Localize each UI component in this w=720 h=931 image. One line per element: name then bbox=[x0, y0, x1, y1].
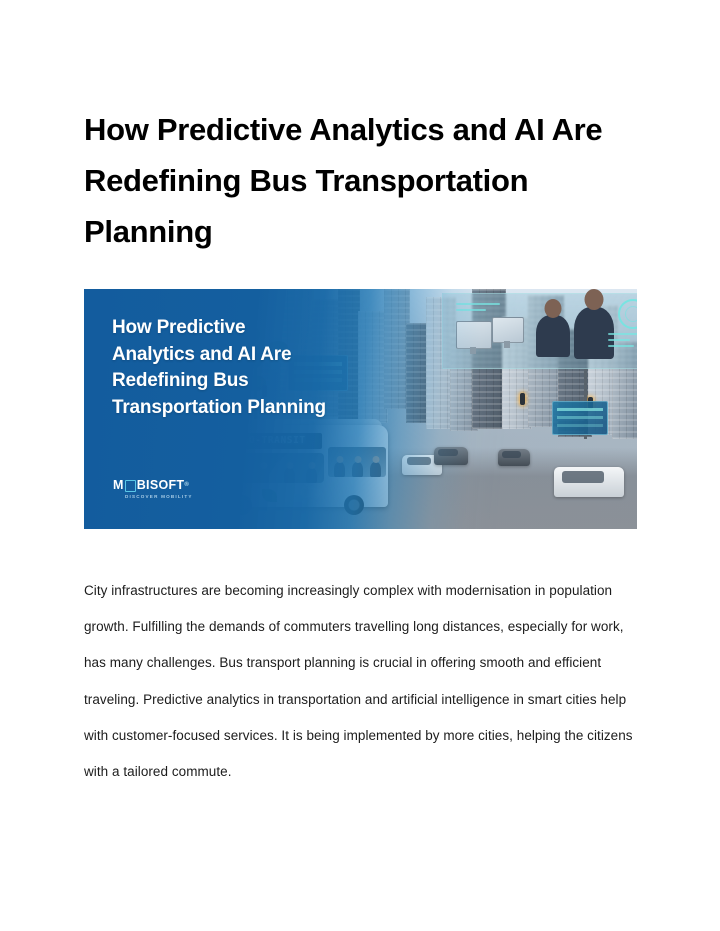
logo-text-after: BISOFT bbox=[137, 479, 185, 492]
hero-image: ECO-TRANSIT bbox=[84, 289, 637, 529]
article-body-paragraph: City infrastructures are becoming increa… bbox=[84, 573, 640, 790]
page-title: How Predictive Analytics and AI Are Rede… bbox=[84, 104, 624, 257]
article-page: How Predictive Analytics and AI Are Rede… bbox=[0, 0, 720, 931]
logo-text-before: M bbox=[113, 479, 124, 492]
logo-trademark: ® bbox=[184, 479, 189, 492]
hero-headline: How Predictive Analytics and AI Are Rede… bbox=[112, 315, 332, 421]
logo-tagline: DISCOVER MOBILITY bbox=[125, 494, 193, 499]
logo-wordmark: M BISOFT ® bbox=[113, 479, 193, 492]
mobisoft-logo: M BISOFT ® DISCOVER MOBILITY bbox=[113, 479, 193, 499]
logo-square-icon bbox=[125, 480, 136, 492]
article-content: How Predictive Analytics and AI Are Rede… bbox=[84, 104, 638, 804]
